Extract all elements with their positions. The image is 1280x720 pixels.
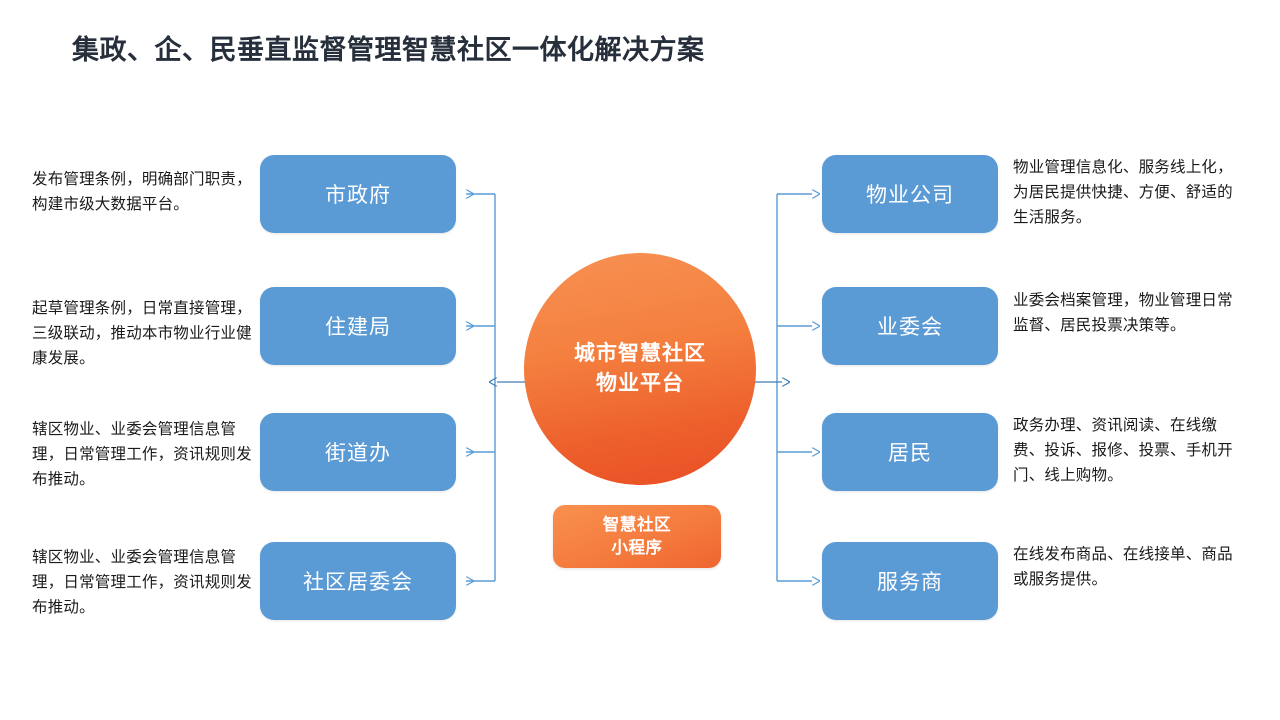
mini-app-line-1: 智慧社区 [603, 514, 671, 537]
node-owners-committee[interactable]: 业委会 [822, 287, 998, 365]
left-connector-group [466, 194, 495, 581]
node-residents[interactable]: 居民 [822, 413, 998, 491]
node-label: 住建局 [325, 311, 391, 341]
node-housing-bureau[interactable]: 住建局 [260, 287, 456, 365]
desc-right-4: 在线发布商品、在线接单、商品或服务提供。 [1013, 542, 1245, 592]
node-city-government[interactable]: 市政府 [260, 155, 456, 233]
hub-title-line-1: 城市智慧社区 [574, 339, 706, 369]
node-street-office[interactable]: 街道办 [260, 413, 456, 491]
node-label: 业委会 [877, 311, 943, 341]
desc-right-3: 政务办理、资讯阅读、在线缴费、投诉、报修、投票、手机开门、线上购物。 [1013, 413, 1245, 488]
node-label: 市政府 [325, 179, 391, 209]
node-label: 服务商 [877, 566, 943, 596]
node-property-company[interactable]: 物业公司 [822, 155, 998, 233]
desc-left-2: 起草管理条例，日常直接管理，三级联动，推动本市物业行业健康发展。 [32, 296, 258, 371]
desc-right-2: 业委会档案管理，物业管理日常监督、居民投票决策等。 [1013, 288, 1245, 338]
desc-right-1: 物业管理信息化、服务线上化，为居民提供快捷、方便、舒适的生活服务。 [1013, 155, 1245, 230]
desc-left-1: 发布管理条例，明确部门职责，构建市级大数据平台。 [32, 167, 258, 217]
node-label: 居民 [888, 437, 932, 467]
desc-left-4: 辖区物业、业委会管理信息管理，日常管理工作，资讯规则发布推动。 [32, 545, 258, 620]
node-community-committee[interactable]: 社区居委会 [260, 542, 456, 620]
node-label: 街道办 [325, 437, 391, 467]
desc-left-3: 辖区物业、业委会管理信息管理，日常管理工作，资讯规则发布推动。 [32, 417, 258, 492]
node-service-provider[interactable]: 服务商 [822, 542, 998, 620]
hub-circle[interactable]: 城市智慧社区 物业平台 [524, 253, 756, 485]
hub-title-line-2: 物业平台 [596, 369, 684, 399]
mini-app-badge[interactable]: 智慧社区 小程序 [553, 505, 721, 568]
right-connector-group [777, 194, 812, 581]
mini-app-line-2: 小程序 [611, 537, 662, 560]
node-label: 物业公司 [866, 179, 954, 209]
node-label: 社区居委会 [303, 566, 413, 596]
page-title: 集政、企、民垂直监督管理智慧社区一体化解决方案 [72, 28, 705, 67]
